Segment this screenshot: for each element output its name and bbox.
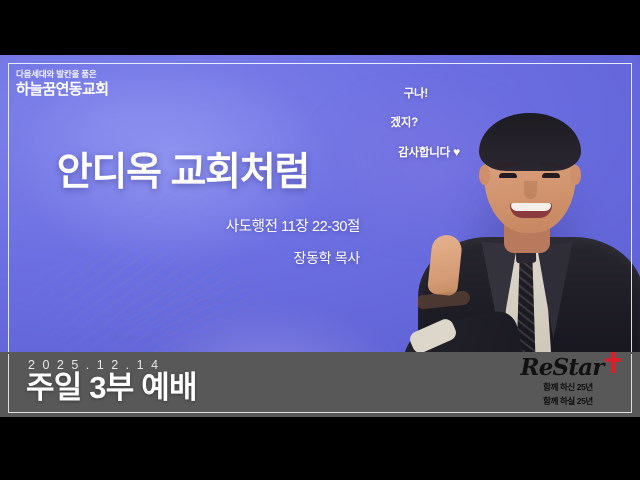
church-logo: 다음세대와 발칸을 품은 하늘꿈연동교회	[16, 69, 108, 99]
pastor-nose	[524, 181, 537, 199]
restart-logo: ReStar 함께 하신 25년 함께 하실 25년	[516, 356, 620, 408]
church-tagline: 다음세대와 발칸을 품은	[16, 69, 108, 79]
pastor-smile	[510, 203, 552, 218]
speaker-name: 장동학 목사	[0, 248, 360, 268]
pastor-eye-left	[499, 173, 517, 178]
screenshot-stage: 구나! 겠지? 감사합니다♥ 다음세대와 발칸을 품은 하늘꿈연동교회 안디옥 …	[0, 0, 640, 480]
heart-icon: ♥	[453, 145, 460, 159]
church-name: 하늘꿈연동교회	[16, 82, 108, 99]
sermon-title-block: 안디옥 교회처럼 사도행전 11장 22-30절 장동학 목사	[0, 151, 366, 268]
service-name: 주일 3부 예배	[26, 371, 197, 406]
pastor-ear-right	[570, 165, 581, 185]
pastor-ear-left	[479, 165, 490, 185]
letterbox-bar-top	[0, 0, 640, 55]
restart-subtitle-line-1: 함께 하신 25년	[516, 382, 620, 393]
page-title: 안디옥 교회처럼	[0, 151, 366, 195]
sermon-meta: 사도행전 11장 22-30절 장동학 목사	[0, 217, 366, 269]
note-line-2: 겠지?	[330, 118, 418, 130]
pastor-teeth	[511, 203, 551, 211]
letterbox-bar-bottom	[0, 417, 640, 480]
scripture-reference: 사도행전 11장 22-30절	[0, 217, 360, 239]
cross-icon	[605, 352, 621, 373]
restart-subtitle-line-2: 함께 하실 25년	[516, 396, 620, 407]
note-line-3-text: 감사합니다	[398, 147, 450, 159]
pastor-eye-right	[542, 173, 560, 178]
restart-wordmark: ReStar	[516, 356, 620, 379]
pastor-thumb	[427, 234, 463, 297]
note-line-1: 구나!	[330, 89, 428, 101]
restart-wordmark-text: ReStar	[520, 354, 603, 381]
pastor-lapel-right	[537, 242, 580, 340]
bottom-banner: 2025.12.14 주일 3부 예배 ReStar 함께 하신 25년 함께 …	[0, 352, 640, 417]
